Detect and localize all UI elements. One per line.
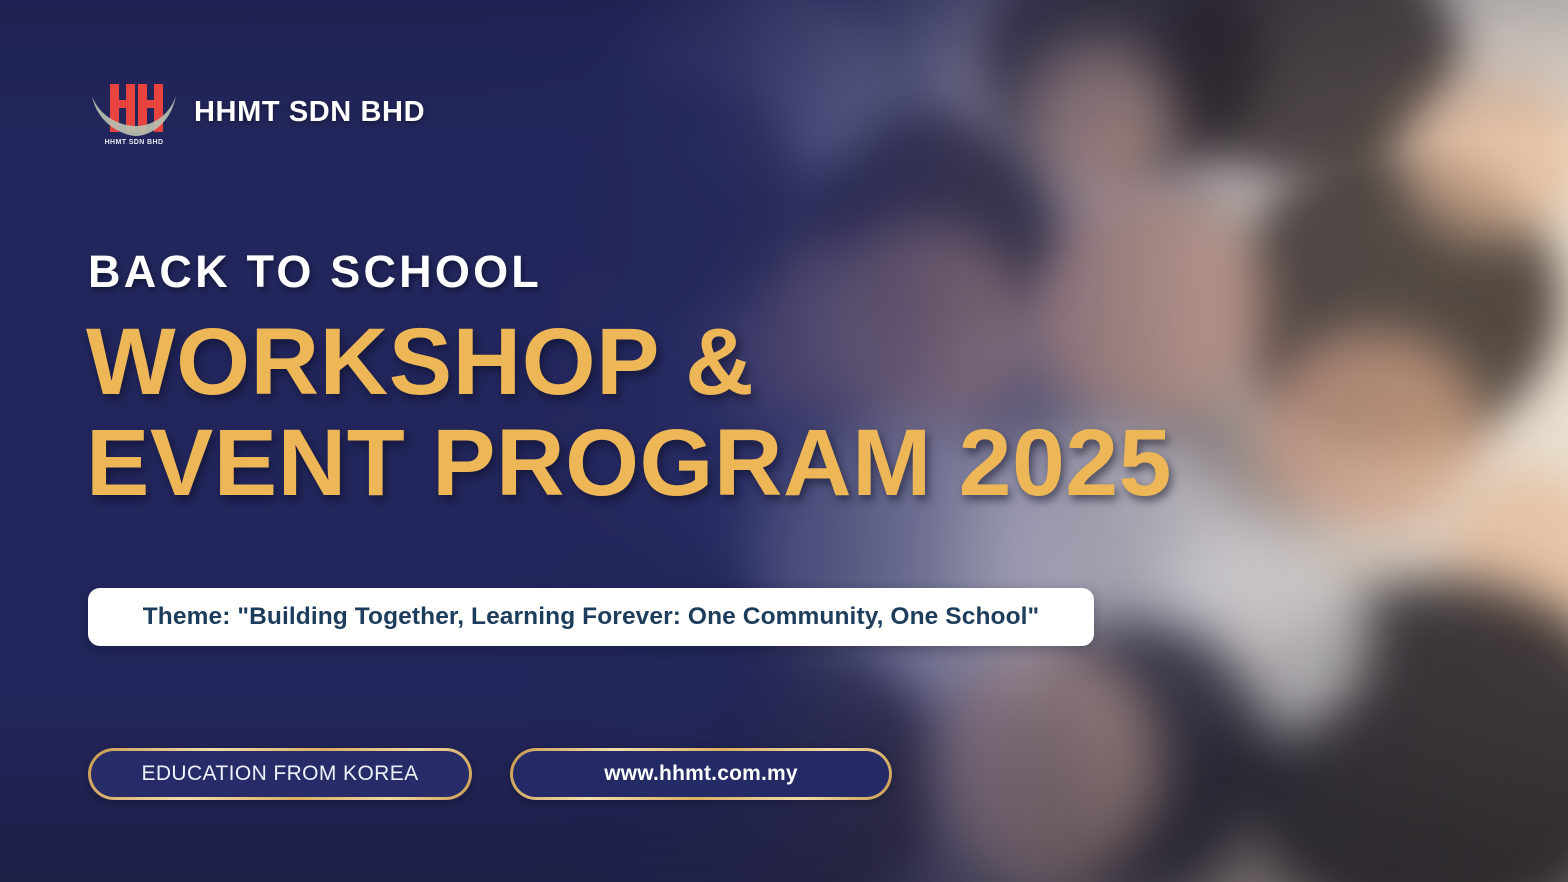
hero-headline-line1: WORKSHOP & [86,309,754,415]
brand-lockup[interactable]: HHMT SDN BHD HHMT SDN BHD [88,74,425,150]
theme-text: Theme: "Building Together, Learning Fore… [143,603,1040,631]
hero-headline-line2: EVENT PROGRAM 2025 [86,413,1172,514]
hero-headline: WORKSHOP & EVENT PROGRAM 2025 [86,312,1172,513]
svg-text:HHMT SDN BHD: HHMT SDN BHD [105,139,164,146]
website-chip[interactable]: www.hhmt.com.my [510,748,892,800]
education-from-korea-label: EDUCATION FROM KOREA [141,762,418,786]
theme-banner: Theme: "Building Together, Learning Fore… [88,588,1094,646]
hhmt-logo-icon: HHMT SDN BHD [88,74,180,150]
footer-chips: EDUCATION FROM KOREA www.hhmt.com.my [88,748,892,800]
poster-canvas: HHMT SDN BHD HHMT SDN BHD BACK TO SCHOOL… [0,0,1568,882]
website-label: www.hhmt.com.my [604,762,798,786]
hero-kicker: BACK TO SCHOOL [88,249,542,294]
brand-name: HHMT SDN BHD [194,96,425,129]
education-from-korea-chip[interactable]: EDUCATION FROM KOREA [88,748,472,800]
